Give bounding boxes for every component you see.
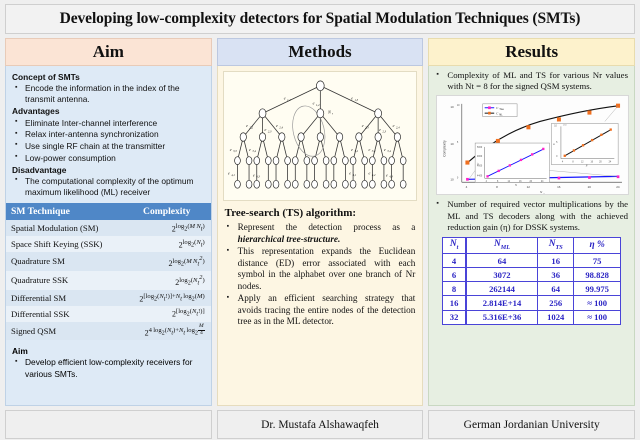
svg-text:x 10: x 10 [563,125,567,127]
cell-complexity: 2log2(Nt) [123,236,211,252]
svg-text:Complexity: Complexity [443,140,447,157]
cell-nml: 5.316E+36 [466,310,538,324]
cell-eta: 99.975 [574,282,621,296]
svg-text:2,4: 2,4 [279,125,283,130]
svg-text:e: e [228,170,230,175]
cell-nml: 2.814E+14 [466,296,538,310]
svg-text:10: 10 [451,178,455,182]
chart-legend: C Tree C ML [483,104,517,117]
svg-text:1,2: 1,2 [316,103,320,108]
table-header-row: Nt NML NTS η % [443,237,621,253]
list-item-emphasis: hierarchical tree-structure. [238,234,341,244]
svg-text:4: 4 [466,185,468,189]
cell-nt: 4 [443,253,466,267]
disadvantage-list: The computational complexity of the opti… [12,176,205,198]
col-header-nts: NTS [538,237,574,253]
svg-text:3,4: 3,4 [387,149,391,154]
table-row: 32 5.316E+36 1024 ≈ 100 [443,310,621,324]
svg-text:20: 20 [588,185,592,189]
svg-text:e: e [253,172,255,177]
table-row: Quadrature SSK 2log2(Nt2) [6,271,211,290]
table-row: 16 2.814E+14 256 ≈ 100 [443,296,621,310]
svg-text:C: C [554,143,557,145]
cell-technique: Spatial Modulation (SM) [6,220,123,236]
col-header-nt: Nt [443,237,466,253]
cell-nts: 16 [538,253,574,267]
cell-nml: 3072 [466,268,538,282]
table-row: Differential SSK 2[log2(Nt!)] [6,306,211,322]
table-row: Space Shift Keying (SSK) 2log2(Nt) [6,236,211,252]
table-row: 8 262144 64 99.975 [443,282,621,296]
svg-text:2,2: 2,2 [249,125,253,130]
cell-complexity: 2log2(Nt2) [123,271,211,290]
list-item: Eliminate Inter-channel interference [12,118,205,129]
cell-technique: Space Shift Keying (SSK) [6,236,123,252]
advantages-list: Eliminate Inter-channel interference Rel… [12,118,205,164]
cell-technique: Quadrature SM [6,252,123,271]
svg-text:3,3: 3,3 [233,149,237,154]
svg-text:8: 8 [496,185,498,189]
cell-nts: 1024 [538,310,574,324]
svg-text:10: 10 [451,105,455,109]
column-body-results: Complexity of ML and TS for various Nr v… [428,66,635,406]
column-aim: Aim Concept of SMTs Encode the informati… [5,38,212,406]
poster-title-bar: Developing low-complexity detectors for … [5,4,635,34]
table-row: Quadrature SM 2log2(M Nt2) [6,252,211,271]
cell-eta: 98.828 [574,268,621,282]
complexity-chart-svg: 1010 105 100 4812 162024 Nr Complexity [437,96,628,194]
table-row: Spatial Modulation (SM) 2log2(M Nt) [6,220,211,236]
footer-institution: German Jordanian University [428,410,635,439]
cell-technique: Signed QSM [6,322,123,341]
svg-text:e: e [368,147,370,152]
cell-complexity: 2[log2(Nt!)]+Nt log2(M) [123,290,211,306]
ml-inset: 10x 10 50 4812 162024 C N [552,124,619,168]
svg-text:2,3: 2,3 [365,125,369,130]
ts-algorithm-list: Represent the detection process as a hie… [218,222,423,328]
table-row: Signed QSM 24 log2(Nt)+Nt log2M4 [6,322,211,341]
page-title: Developing low-complexity detectors for … [60,10,581,28]
svg-text:1,1: 1,1 [287,98,291,103]
svg-text:C: C [477,163,480,165]
svg-text:e: e [351,96,353,101]
col-header-nml: NML [466,237,538,253]
svg-text:2,3: 2,3 [382,129,386,134]
svg-text:2,4: 2,4 [396,125,400,130]
column-body-methods: e1,1 e1,2 e1,3 e2,2 e2,3 e2,4 e2,3 e2,3 … [217,66,424,406]
svg-text:e: e [246,123,248,128]
tree-diagram-figure: e1,1 e1,2 e1,3 e2,2 e2,3 e2,4 e2,3 e2,3 … [223,71,418,201]
aim2-heading: Aim [12,346,205,357]
svg-text:e: e [249,147,251,152]
col-header-eta: η % [574,237,621,253]
column-body-aim: Concept of SMTs Encode the information i… [5,66,212,406]
svg-text:N: N [515,184,518,187]
ts-algorithm-heading: Tree-search (TS) algorithm: [225,207,423,219]
table-row: Differential SM 2[log2(Nt!)]+Nt log2(M) [6,290,211,306]
methods-heading: Methods [288,42,351,62]
col-header-technique: SM Technique [6,203,123,220]
svg-text:e: e [368,170,370,175]
poster-footer: Dr. Mustafa Alshawaqfeh German Jordanian… [5,410,635,439]
cell-nt: 32 [443,310,466,324]
svg-text:4800: 4800 [477,156,483,158]
column-methods: Methods [217,38,424,406]
svg-text:16: 16 [557,185,561,189]
cell-complexity: 24 log2(Nt)+Nt log2M4 [123,322,211,341]
footer-author: Dr. Mustafa Alshawaqfeh [217,410,424,439]
svg-text:10: 10 [451,142,455,146]
list-item: Apply an efficient searching strategy th… [225,293,416,328]
cell-eta: 75 [574,253,621,267]
list-item-text: Represent the detection process as a [238,222,416,232]
list-item: Encode the information in the index of t… [12,83,205,105]
poster-columns: Aim Concept of SMTs Encode the informati… [5,38,635,406]
concept-list: Encode the information in the index of t… [12,83,205,105]
svg-text:e: e [229,147,231,152]
cell-nml: 262144 [466,282,538,296]
svg-text:4,1: 4,1 [231,173,235,178]
table-row: 6 3072 36 98.828 [443,268,621,282]
results-bullet-1-list: Complexity of ML and TS for various Nr v… [429,70,634,92]
cell-eta: ≈ 100 [574,310,621,324]
aim-text-block: Concept of SMTs Encode the information i… [6,66,211,198]
svg-text:e: e [264,127,266,132]
cell-nt: 8 [443,282,466,296]
results-heading: Results [505,42,558,62]
column-results: Results Complexity of ML and TS for vari… [428,38,635,406]
list-item: This representation expands the Euclidea… [225,246,416,292]
svg-text:r: r [332,112,334,116]
svg-text:e: e [312,100,314,105]
cell-technique: Differential SM [6,290,123,306]
cell-complexity: 2log2(M Nt) [123,220,211,236]
cell-nt: 6 [443,268,466,282]
svg-text:e: e [276,123,278,128]
svg-text:e: e [361,123,363,128]
svg-text:e: e [384,147,386,152]
svg-text:5000: 5000 [477,147,483,149]
column-header-aim: Aim [5,38,212,66]
column-header-results: Results [428,38,635,66]
cell-complexity: 2[log2(Nt!)] [123,306,211,322]
list-item: The computational complexity of the opti… [12,176,205,198]
complexity-chart: 1010 105 100 4812 162024 Nr Complexity [436,95,629,195]
svg-text:2,3: 2,3 [268,129,272,134]
svg-text:24: 24 [617,185,621,189]
disadvantage-heading: Disadvantage [12,165,205,176]
footer-spacer [5,410,212,439]
list-item: Low-power consumption [12,153,205,164]
results-bullet-2-list: Number of required vector multiplication… [429,199,634,233]
cell-technique: Differential SSK [6,306,123,322]
tree-inset: 4400460048005000 4812 162024 C N [475,143,549,187]
aim-secondary-block: Aim Develop efficient low-complexity rec… [6,340,211,379]
svg-text:e: e [349,170,351,175]
tree-diagram-svg: e1,1 e1,2 e1,3 e2,2 e2,3 e2,4 e2,3 e2,3 … [224,72,417,200]
svg-text:e: e [283,96,285,101]
svg-text:N: N [585,165,588,168]
list-item: Number of required vector multiplication… [434,199,628,233]
cell-nts: 36 [538,268,574,282]
cell-nml: 64 [466,253,538,267]
list-item: Relax inter-antenna synchronization [12,129,205,140]
table-row: 4 64 16 75 [443,253,621,267]
cell-nts: 64 [538,282,574,296]
aim-heading: Aim [93,42,124,62]
cell-complexity: 2log2(M Nt2) [123,252,211,271]
cell-eta: ≈ 100 [574,296,621,310]
table-header-row: SM Technique Complexity [6,203,211,220]
svg-text:e: e [386,172,388,177]
list-item: Represent the detection process as a hie… [225,222,416,245]
list-item: Use single RF chain at the transmitter [12,141,205,152]
svg-text:e: e [351,147,353,152]
results-table: Nt NML NTS η % 4 64 16 75 [442,237,621,325]
svg-text:Tree: Tree [500,108,505,111]
list-item: Complexity of ML and TS for various Nr v… [434,70,628,92]
aim2-list: Develop efficient low-complexity receive… [12,357,205,379]
svg-text:4600: 4600 [477,166,483,168]
concept-heading: Concept of SMTs [12,72,205,83]
poster-root: Developing low-complexity detectors for … [0,0,640,440]
cell-technique: Quadrature SSK [6,271,123,290]
cell-nt: 16 [443,296,466,310]
advantages-heading: Advantages [12,106,205,117]
list-item: Develop efficient low-complexity receive… [12,357,205,379]
svg-text:e: e [379,127,381,132]
svg-text:12: 12 [527,185,531,189]
sm-technique-table: SM Technique Complexity Spatial Modulati… [6,203,211,340]
column-header-methods: Methods [217,38,424,66]
svg-text:3,4: 3,4 [252,149,256,154]
col-header-complexity: Complexity [123,203,211,220]
svg-text:e: e [392,123,394,128]
svg-text:4400: 4400 [477,176,483,178]
cell-nts: 256 [538,296,574,310]
